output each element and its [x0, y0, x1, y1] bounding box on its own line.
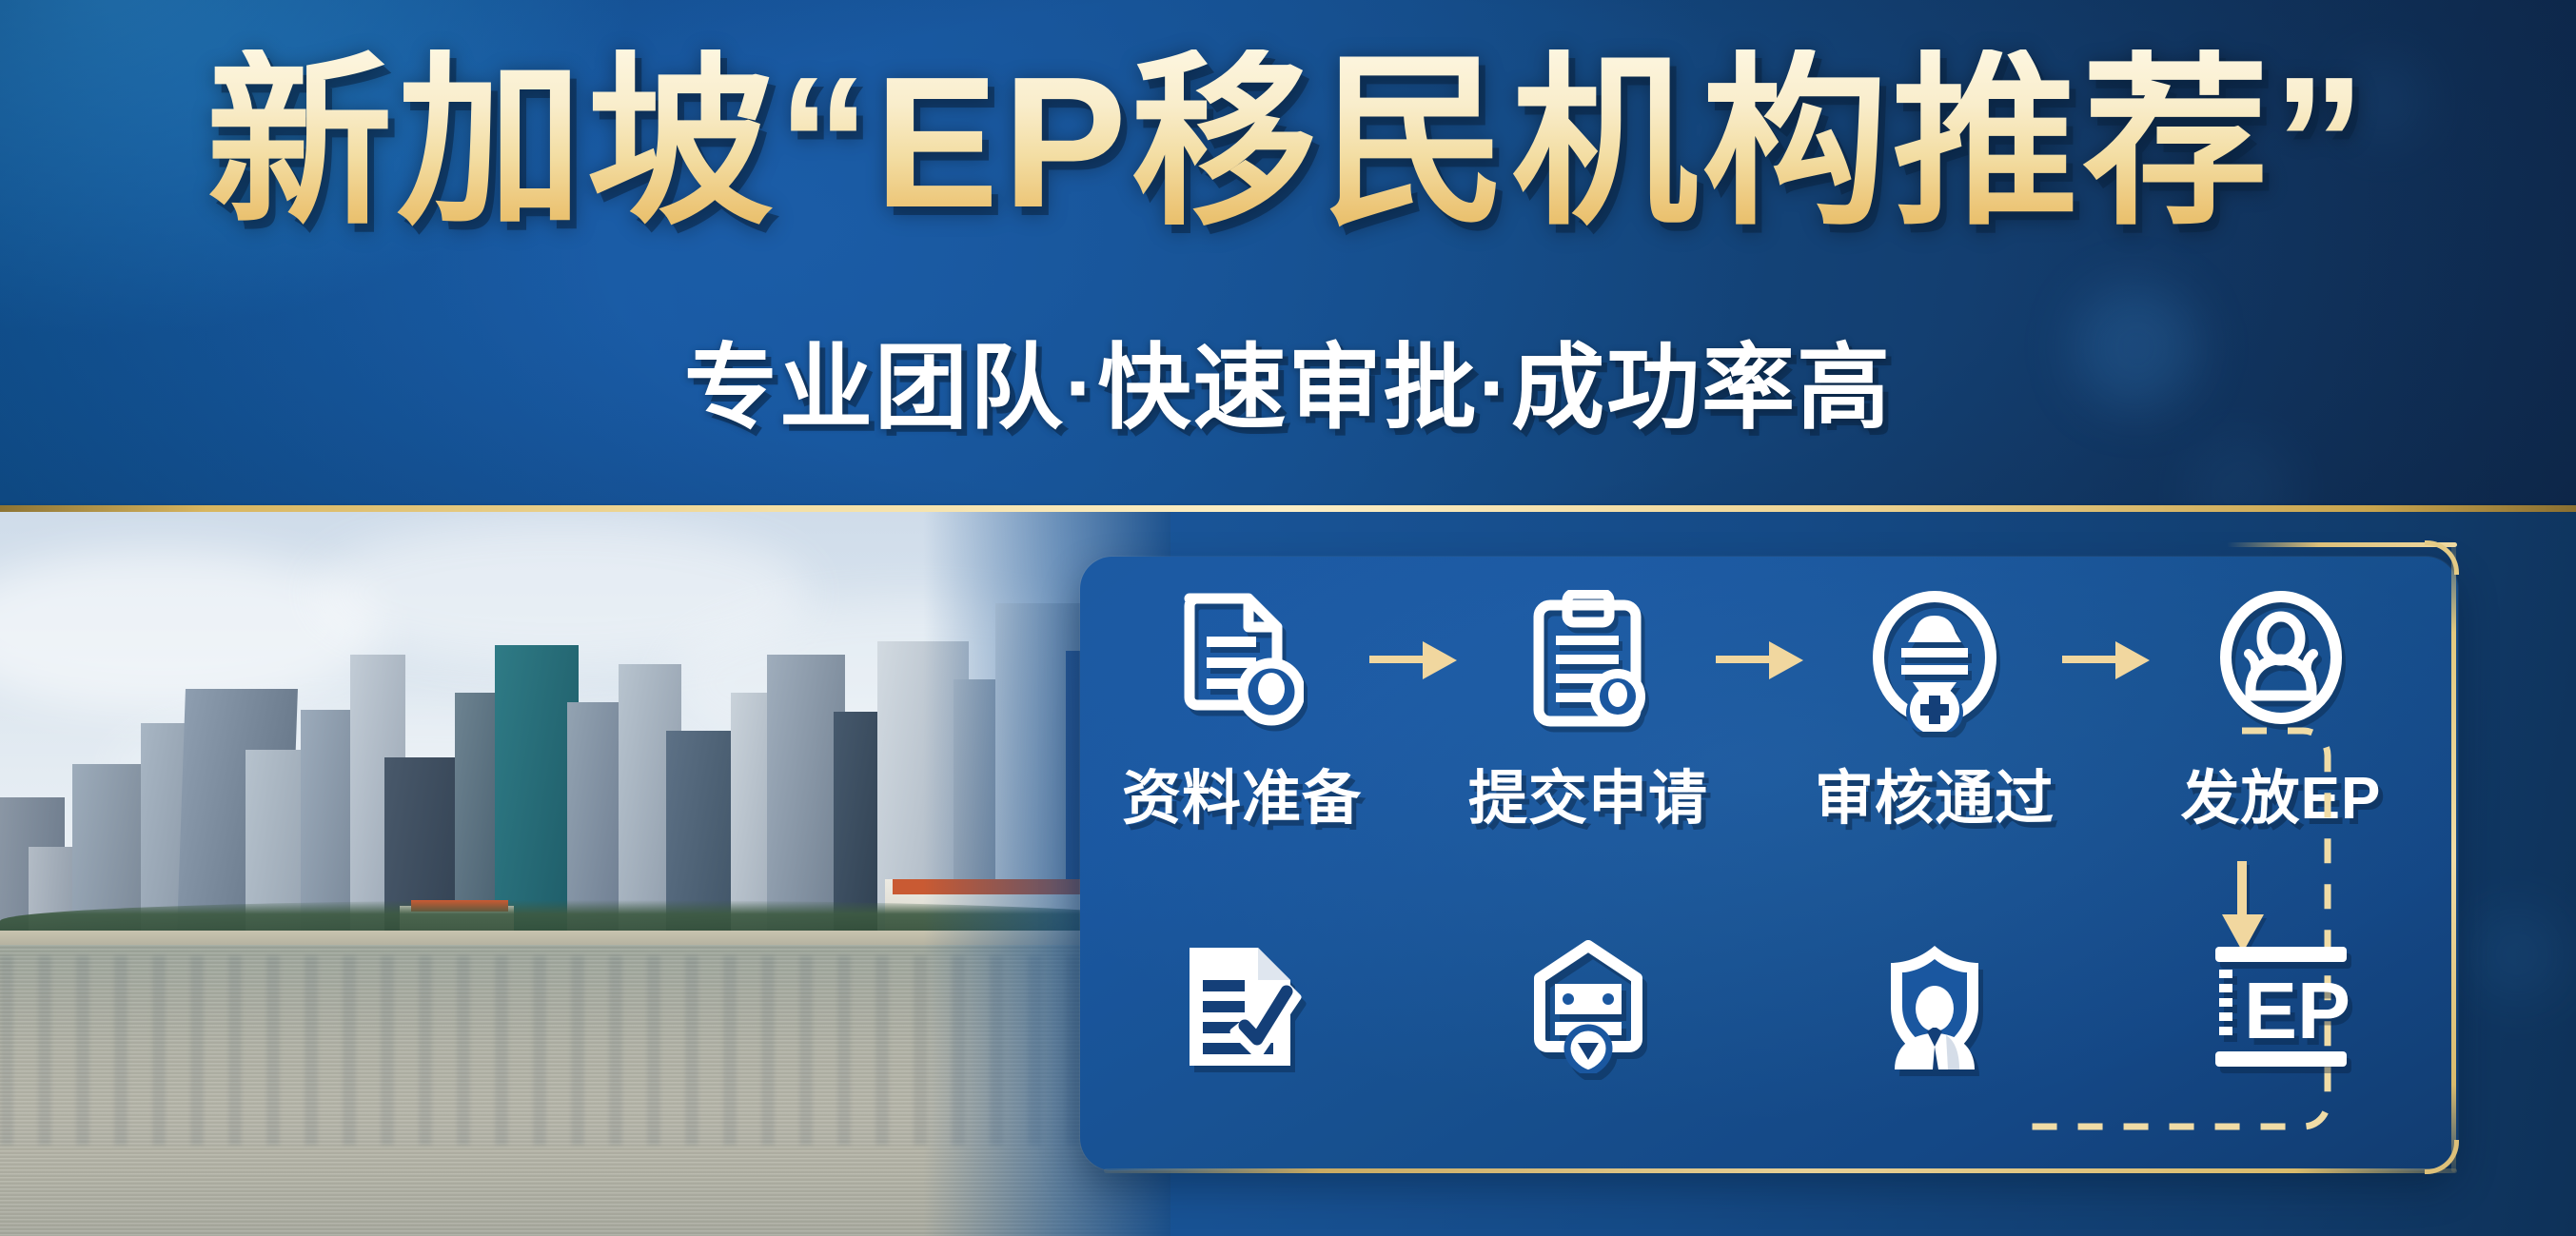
panel-gold-border-top	[2227, 542, 2457, 547]
process-step-1-label: 资料准备	[1122, 750, 1362, 835]
process-step-2[interactable]: 提交申请	[1468, 588, 1708, 835]
approval-seal-icon	[1867, 588, 2002, 733]
user-in-circle-icon	[2214, 588, 2348, 733]
page-title: 新加坡“EP移民机构推荐”	[0, 49, 2576, 236]
process-steps-row: 资料准备 提交申请	[1080, 588, 2458, 883]
process-icons-row-2: EP	[1080, 913, 2458, 1104]
certificate-badge-icon	[1526, 940, 1650, 1078]
row2-cell-3[interactable]	[1815, 940, 2055, 1078]
arrow-right-icon	[1708, 588, 1815, 733]
banner-root: 新加坡“EP移民机构推荐” 专业团队·快速审批·成功率高	[0, 0, 2576, 1236]
page-subtitle: 专业团队·快速审批·成功率高	[0, 341, 2576, 434]
document-with-seal-icon	[1180, 588, 1304, 733]
title-block: 新加坡“EP移民机构推荐” 专业团队·快速审批·成功率高	[0, 0, 2576, 507]
svg-text:EP: EP	[2244, 966, 2350, 1055]
header-band: 新加坡“EP移民机构推荐” 专业团队·快速审批·成功率高	[0, 0, 2576, 507]
row2-cell-4[interactable]: EP	[2161, 945, 2401, 1073]
panel-gold-border-bottom	[1104, 1168, 2457, 1173]
process-step-2-label: 提交申请	[1468, 750, 1708, 835]
process-step-1[interactable]: 资料准备	[1122, 588, 1362, 835]
process-step-4-label: 发放EP	[2181, 750, 2382, 835]
arrow-right-icon	[2055, 588, 2161, 733]
row2-cell-1[interactable]	[1122, 942, 1362, 1076]
checked-document-icon	[1182, 942, 1302, 1076]
clipboard-with-seal-icon	[1525, 588, 1651, 733]
row2-cell-2[interactable]	[1468, 940, 1708, 1078]
arrow-right-icon	[1362, 588, 1468, 733]
gold-divider	[0, 505, 2576, 512]
bokeh-dot	[2474, 912, 2560, 997]
person-shield-icon	[1878, 940, 1992, 1078]
process-step-4[interactable]: 发放EP	[2161, 588, 2401, 835]
ep-card-icon: EP	[2210, 945, 2352, 1073]
process-step-3[interactable]: 审核通过	[1815, 588, 2055, 835]
process-step-3-label: 审核通过	[1815, 750, 2055, 835]
singapore-skyline-photo	[0, 512, 1170, 1236]
